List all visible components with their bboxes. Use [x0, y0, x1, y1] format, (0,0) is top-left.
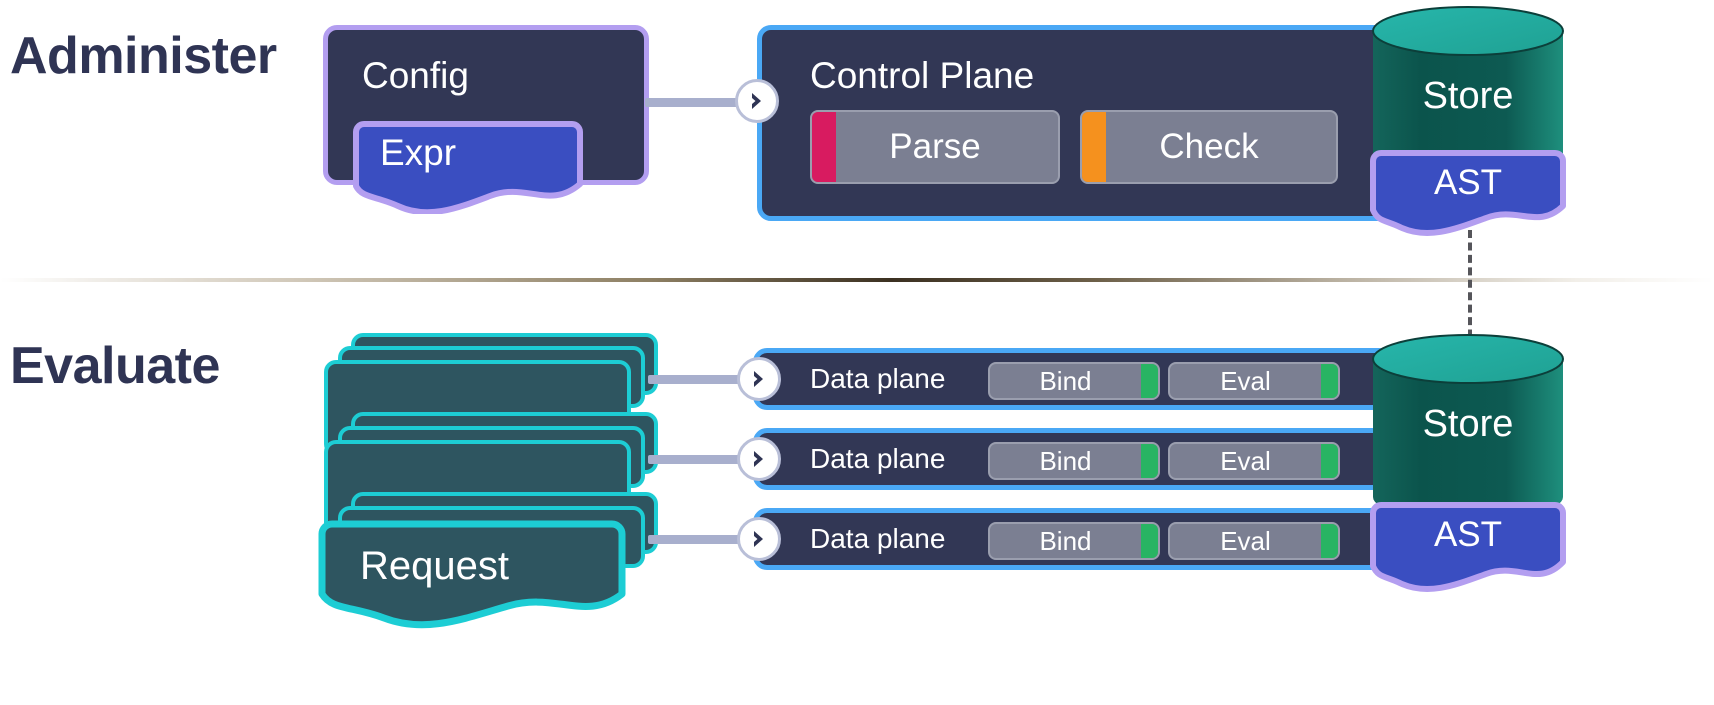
evaluate-ast-label: AST — [1368, 517, 1568, 552]
data-plane-2-title: Data plane — [810, 445, 945, 473]
stage-box-check-label: Check — [1159, 127, 1258, 167]
request-document-label: Request — [360, 546, 509, 586]
data-plane-panel-3: Data plane Bind Eval — [753, 508, 1393, 570]
chevron-right-icon — [737, 517, 781, 561]
request-stack: Request — [318, 333, 658, 623]
stage-box-bind-3-label: Bind — [1039, 526, 1091, 557]
ast-sync-link — [1468, 230, 1472, 350]
bind-status-bar — [1141, 444, 1158, 478]
data-plane-panel-1: Data plane Bind Eval — [753, 348, 1393, 410]
eval-status-bar — [1321, 444, 1338, 478]
evaluate-store-label: Store — [1370, 405, 1566, 443]
bind-status-bar — [1141, 364, 1158, 398]
expr-document-label: Expr — [380, 134, 456, 171]
stage-box-eval-3[interactable]: Eval — [1168, 522, 1340, 560]
section-divider — [0, 278, 1714, 282]
stage-box-eval-2-label: Eval — [1220, 446, 1271, 477]
evaluate-ast-document: AST — [1368, 500, 1568, 598]
eval-status-bar — [1321, 364, 1338, 398]
config-panel-title: Config — [362, 57, 469, 94]
data-plane-3-title: Data plane — [810, 525, 945, 553]
expr-document: Expr — [350, 118, 586, 214]
administer-store-label: Store — [1370, 77, 1566, 115]
chevron-right-icon — [737, 437, 781, 481]
data-plane-panel-2: Data plane Bind Eval — [753, 428, 1393, 490]
stage-box-bind-2[interactable]: Bind — [988, 442, 1160, 480]
stage-box-bind-2-label: Bind — [1039, 446, 1091, 477]
stage-box-eval-1[interactable]: Eval — [1168, 362, 1340, 400]
bind-status-bar — [1141, 524, 1158, 558]
stage-box-check[interactable]: Check — [1080, 110, 1338, 184]
administer-ast-document: AST — [1368, 148, 1568, 236]
control-plane-title: Control Plane — [810, 57, 1034, 94]
chevron-right-icon — [735, 79, 779, 123]
stage-box-bind-1[interactable]: Bind — [988, 362, 1160, 400]
administer-ast-label: AST — [1368, 165, 1568, 200]
check-status-bar — [1082, 112, 1106, 182]
stage-box-parse-label: Parse — [889, 127, 980, 167]
stage-box-bind-1-label: Bind — [1039, 366, 1091, 397]
diagram-canvas: Administer Config Expr Control Plane Par… — [0, 0, 1714, 705]
data-plane-1-title: Data plane — [810, 365, 945, 393]
row-label-evaluate: Evaluate — [10, 340, 220, 392]
eval-status-bar — [1321, 524, 1338, 558]
evaluate-store-cylinder: Store — [1370, 333, 1566, 523]
stage-box-bind-3[interactable]: Bind — [988, 522, 1160, 560]
stage-box-eval-3-label: Eval — [1220, 526, 1271, 557]
stage-box-parse[interactable]: Parse — [810, 110, 1060, 184]
stage-box-eval-2[interactable]: Eval — [1168, 442, 1340, 480]
stage-box-eval-1-label: Eval — [1220, 366, 1271, 397]
request-document: Request — [318, 520, 628, 629]
parse-status-bar — [812, 112, 836, 182]
chevron-right-icon — [737, 357, 781, 401]
row-label-administer: Administer — [10, 30, 277, 82]
